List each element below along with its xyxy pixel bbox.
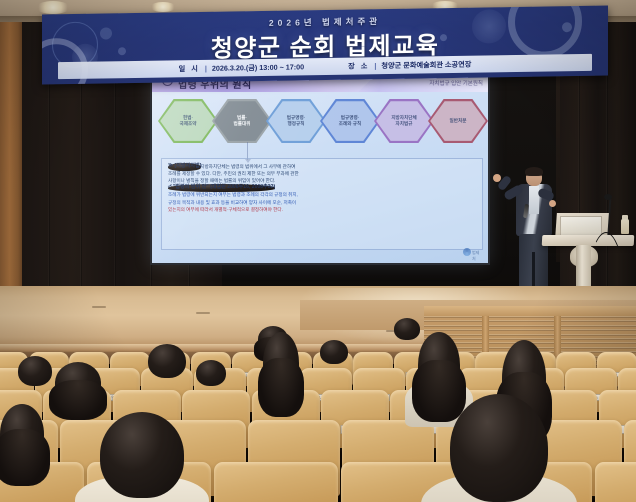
hexagon-label: 지방자치단체자치법규 [388, 115, 419, 126]
audience-head [55, 362, 101, 404]
audience-head [18, 356, 52, 386]
slide-body-line-3: 조례를 제정할 수 있다. 다만, 주민의 권리 제한 또는 의무 부과에 관한 [168, 170, 476, 177]
banner-datetime-value: 2026.3.20.(금) 13:00 ~ 17:00 [212, 62, 304, 72]
hexagon-node-1: 헌법·국제조약 [158, 99, 218, 143]
slide-body-line-5: ✓ "법령의 범위 안" (대법원 2006두16, 2008추32) [168, 184, 275, 192]
banner-place-label: 장 소 [348, 61, 369, 70]
louver-slat [424, 325, 636, 327]
laptop [560, 216, 602, 236]
hexagon-label: 일반처분 [447, 118, 470, 124]
louver-slat [424, 329, 636, 331]
slide-logo-text: 법제처 [472, 250, 480, 262]
audience-head [263, 332, 299, 394]
banner-datetime: 일 시 | 2026.3.20.(금) 13:00 ~ 17:00 [179, 62, 305, 74]
hexagon-node-5: 지방자치단체자치법규 [374, 99, 434, 143]
event-banner: 2026년 법제처주관 청양군 순회 법제교육 일 시 | 2026.3.20.… [42, 6, 608, 85]
banner-separator: | [374, 61, 376, 70]
audience-head [196, 360, 226, 386]
audience-head [450, 394, 548, 502]
floor-marker [92, 306, 106, 308]
photo-scene: ② 법령 우위의 원칙 Ⅱ 자치법규 입안 기본원칙 헌법·국제조약법률·법률대… [0, 0, 636, 502]
speaker-right-hand [493, 174, 501, 182]
hexagon-hierarchy-diagram: 헌법·국제조약법률·법률대위법규명령·행정규칙법규명령·조례와 규칙지방자치단체… [158, 98, 486, 144]
hexagon-node-3: 법규명령·행정규칙 [266, 99, 326, 143]
speaker-shirt [529, 186, 539, 214]
slide-body-line-8: 규정의 목적과 내용 및 효과 등을 비교하여 양자 사이에 모순, 저촉이 [168, 199, 476, 206]
audience-head [100, 412, 184, 498]
audience-head [418, 332, 460, 398]
projection-screen: ② 법령 우위의 원칙 Ⅱ 자치법규 입안 기본원칙 헌법·국제조약법률·법률대… [150, 70, 490, 265]
banner-place-value: 청양군 문화예술회관 소공연장 [381, 59, 471, 69]
audience-head [394, 318, 420, 340]
louver-slat [424, 320, 636, 322]
hexagon-node-4: 법규명령·조례와 규칙 [320, 99, 380, 143]
louver-slat [424, 316, 636, 318]
water-bottle [621, 219, 629, 234]
slide-body-line-1: ≫ [지방자치법] [168, 163, 201, 171]
hexagon-label: 법규명령·조례와 규칙 [336, 115, 364, 126]
auditorium-seat[interactable] [595, 462, 636, 502]
speaker-left-hand [549, 200, 556, 207]
audience-head [148, 344, 186, 378]
louver-slat [424, 334, 636, 336]
left-wood-wall [0, 22, 24, 294]
hexagon-label: 법규명령·행정규칙 [284, 115, 308, 126]
podium-microphone-icon [604, 194, 612, 200]
ceiling-light [36, 1, 70, 14]
hexagon-label: 법률·법률대위 [231, 115, 254, 126]
auditorium-seat[interactable] [214, 462, 338, 502]
audience-head [320, 340, 348, 364]
louver-slat [424, 338, 636, 340]
banner-datetime-label: 일 시 [179, 63, 200, 72]
audience-head [0, 404, 44, 464]
slide-body-line-2: 제28조(조례) ① 지방자치단체는 법령의 범위에서 그 사무에 관하여 [168, 163, 476, 170]
hexagon-node-2: 법률·법률대위 [212, 99, 272, 143]
banner-place: 장 소 | 청양군 문화예술회관 소공연장 [348, 59, 471, 71]
moleg-logo-icon: 법제처 [463, 248, 480, 257]
floor-marker [196, 312, 210, 314]
speaker-hair [525, 167, 543, 176]
slide-body-text: ≫ [지방자치법]제28조(조례) ① 지방자치단체는 법령의 범위에서 그 사… [161, 158, 483, 250]
slide-body-line-7: 조례가 법령에 위반되는지 여부는 법령과 조례의 각각의 규정의 취지, [168, 191, 476, 198]
slide-tab-text: 자치법규 입안 기본원칙 [429, 79, 483, 87]
slide-body-line-9: 있는지의 여부에 따라서 개별적·구체적으로 결정하여야 한다. [168, 206, 476, 213]
ceiling-light [150, 2, 176, 12]
hexagon-label: 헌법·국제조약 [177, 115, 200, 126]
hexagon-node-6: 일반처분 [428, 99, 488, 143]
slide-surface: ② 법령 우위의 원칙 Ⅱ 자치법규 입안 기본원칙 헌법·국제조약법률·법률대… [152, 72, 488, 263]
banner-separator: | [205, 63, 207, 72]
